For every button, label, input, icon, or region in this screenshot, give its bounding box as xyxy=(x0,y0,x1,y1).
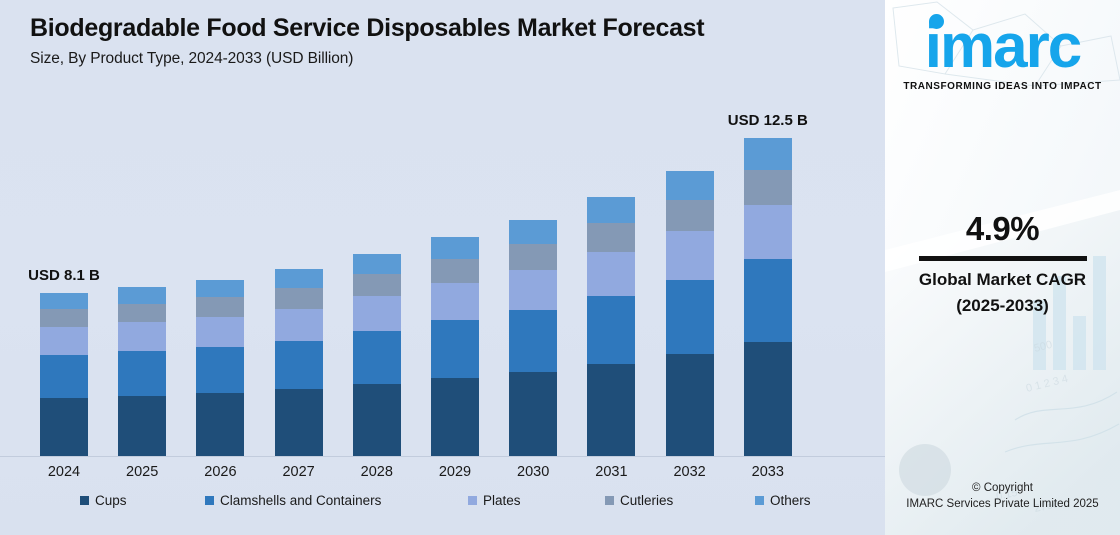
bar-segment-cutleries[interactable] xyxy=(40,309,88,327)
chart-subtitle: Size, By Product Type, 2024-2033 (USD Bi… xyxy=(30,50,885,68)
bar-segment-plates[interactable] xyxy=(509,270,557,310)
x-axis-label-2028: 2028 xyxy=(342,464,412,480)
legend-label: Cutleries xyxy=(620,493,673,508)
bar-segment-plates[interactable] xyxy=(196,317,244,347)
bar-segment-cutleries[interactable] xyxy=(118,304,166,323)
x-axis-label-2024: 2024 xyxy=(29,464,99,480)
cagr-block: 4.9% Global Market CAGR (2025-2033) xyxy=(885,210,1120,316)
cagr-label-period: (2025-2033) xyxy=(885,296,1120,316)
legend-item-cups[interactable]: Cups xyxy=(80,493,127,508)
bar-segment-cups[interactable] xyxy=(118,396,166,457)
bar-segment-plates[interactable] xyxy=(744,205,792,259)
bar-segment-clamshells-and-containers[interactable] xyxy=(353,331,401,384)
legend-item-cutleries[interactable]: Cutleries xyxy=(605,493,673,508)
bar-segment-plates[interactable] xyxy=(40,327,88,355)
bar-segment-cups[interactable] xyxy=(275,389,323,457)
bar-segment-others[interactable] xyxy=(666,171,714,200)
legend-swatch-icon xyxy=(605,496,614,505)
copyright-line-2: IMARC Services Private Limited 2025 xyxy=(885,496,1120,513)
bar-segment-cups[interactable] xyxy=(196,393,244,457)
bar-2032[interactable] xyxy=(666,171,714,457)
bar-segment-clamshells-and-containers[interactable] xyxy=(587,296,635,364)
bar-segment-plates[interactable] xyxy=(275,309,323,341)
copyright-line-1: © Copyright xyxy=(885,480,1120,497)
bar-segment-clamshells-and-containers[interactable] xyxy=(275,341,323,390)
cagr-divider xyxy=(919,256,1087,261)
x-axis-label-2030: 2030 xyxy=(498,464,568,480)
chart-infographic: Biodegradable Food Service Disposables M… xyxy=(0,0,1120,535)
bar-segment-cups[interactable] xyxy=(40,398,88,457)
bar-segment-plates[interactable] xyxy=(587,252,635,296)
chart-header: Biodegradable Food Service Disposables M… xyxy=(0,0,885,68)
bar-2025[interactable] xyxy=(118,287,166,457)
bar-segment-cutleries[interactable] xyxy=(666,200,714,231)
bar-segment-cups[interactable] xyxy=(744,342,792,457)
bar-segment-others[interactable] xyxy=(40,293,88,309)
bar-segment-cutleries[interactable] xyxy=(509,244,557,270)
legend-swatch-icon xyxy=(755,496,764,505)
bar-segment-others[interactable] xyxy=(353,254,401,274)
bar-segment-cutleries[interactable] xyxy=(431,259,479,283)
bar-segment-clamshells-and-containers[interactable] xyxy=(196,347,244,393)
page-title: Biodegradable Food Service Disposables M… xyxy=(30,14,885,43)
bar-2026[interactable] xyxy=(196,280,244,457)
imarc-tagline: TRANSFORMING IDEAS INTO IMPACT xyxy=(885,81,1120,92)
bar-segment-others[interactable] xyxy=(196,280,244,298)
x-axis-label-2031: 2031 xyxy=(576,464,646,480)
bar-segment-clamshells-and-containers[interactable] xyxy=(666,280,714,354)
bar-segment-plates[interactable] xyxy=(118,322,166,351)
cagr-value: 4.9% xyxy=(885,210,1120,248)
bar-segment-cutleries[interactable] xyxy=(196,297,244,316)
cagr-label-primary: Global Market CAGR xyxy=(885,270,1120,290)
legend-swatch-icon xyxy=(468,496,477,505)
bar-segment-clamshells-and-containers[interactable] xyxy=(40,355,88,398)
bar-segment-clamshells-and-containers[interactable] xyxy=(744,259,792,342)
bar-segment-others[interactable] xyxy=(509,220,557,244)
x-axis-label-2033: 2033 xyxy=(733,464,803,480)
x-axis-line xyxy=(0,456,885,457)
bar-segment-others[interactable] xyxy=(275,269,323,288)
bar-segment-clamshells-and-containers[interactable] xyxy=(431,320,479,377)
legend-item-others[interactable]: Others xyxy=(755,493,811,508)
bar-value-label-2033: USD 12.5 B xyxy=(728,112,808,129)
bar-segment-others[interactable] xyxy=(587,197,635,223)
x-axis-label-2025: 2025 xyxy=(107,464,177,480)
bar-segment-cutleries[interactable] xyxy=(275,288,323,309)
bar-2027[interactable] xyxy=(275,269,323,457)
bar-2031[interactable] xyxy=(587,197,635,457)
x-axis-label-2032: 2032 xyxy=(655,464,725,480)
bar-2024[interactable]: USD 8.1 B xyxy=(40,293,88,457)
bar-segment-others[interactable] xyxy=(118,287,166,304)
imarc-logo-text: imarc xyxy=(925,18,1080,77)
bar-segment-cutleries[interactable] xyxy=(353,274,401,296)
legend-label: Others xyxy=(770,493,811,508)
bar-2033[interactable]: USD 12.5 B xyxy=(744,138,792,457)
legend-swatch-icon xyxy=(205,496,214,505)
legend-item-plates[interactable]: Plates xyxy=(468,493,521,508)
chart-panel: Biodegradable Food Service Disposables M… xyxy=(0,0,885,535)
bar-2030[interactable] xyxy=(509,220,557,457)
brand-logo-block: imarc TRANSFORMING IDEAS INTO IMPACT xyxy=(885,18,1120,92)
brand-panel: 0 1 2 3 4 500 0.15 2768 imarc TRANSFORMI… xyxy=(885,0,1120,535)
legend-label: Cups xyxy=(95,493,127,508)
logo-dot-icon xyxy=(929,14,944,29)
legend-label: Plates xyxy=(483,493,521,508)
bar-segment-plates[interactable] xyxy=(666,231,714,280)
bar-segment-others[interactable] xyxy=(431,237,479,259)
imarc-logo: imarc xyxy=(925,18,1080,77)
bar-segment-cups[interactable] xyxy=(587,364,635,458)
bar-segment-plates[interactable] xyxy=(353,296,401,331)
bar-2029[interactable] xyxy=(431,237,479,457)
bar-segment-plates[interactable] xyxy=(431,283,479,320)
bar-segment-cutleries[interactable] xyxy=(587,223,635,252)
bar-segment-clamshells-and-containers[interactable] xyxy=(509,310,557,372)
x-axis-label-2029: 2029 xyxy=(420,464,490,480)
bar-segment-cups[interactable] xyxy=(666,354,714,457)
bar-segment-clamshells-and-containers[interactable] xyxy=(118,351,166,395)
bar-segment-cups[interactable] xyxy=(431,378,479,457)
bar-segment-cups[interactable] xyxy=(509,372,557,457)
legend-swatch-icon xyxy=(80,496,89,505)
bar-2028[interactable] xyxy=(353,254,401,457)
x-axis-label-2027: 2027 xyxy=(264,464,334,480)
legend-item-clamshells-and-containers[interactable]: Clamshells and Containers xyxy=(205,493,381,508)
bar-segment-cutleries[interactable] xyxy=(744,170,792,205)
stacked-bar-plot: USD 8.1 BUSD 12.5 B xyxy=(0,105,885,457)
x-axis-label-2026: 2026 xyxy=(185,464,255,480)
bar-value-label-2024: USD 8.1 B xyxy=(28,267,100,284)
legend-label: Clamshells and Containers xyxy=(220,493,381,508)
bar-segment-cups[interactable] xyxy=(353,384,401,457)
bar-segment-others[interactable] xyxy=(744,138,792,170)
x-axis-labels: 2024202520262027202820292030203120322033 xyxy=(0,464,885,490)
copyright-block: © Copyright IMARC Services Private Limit… xyxy=(885,480,1120,513)
